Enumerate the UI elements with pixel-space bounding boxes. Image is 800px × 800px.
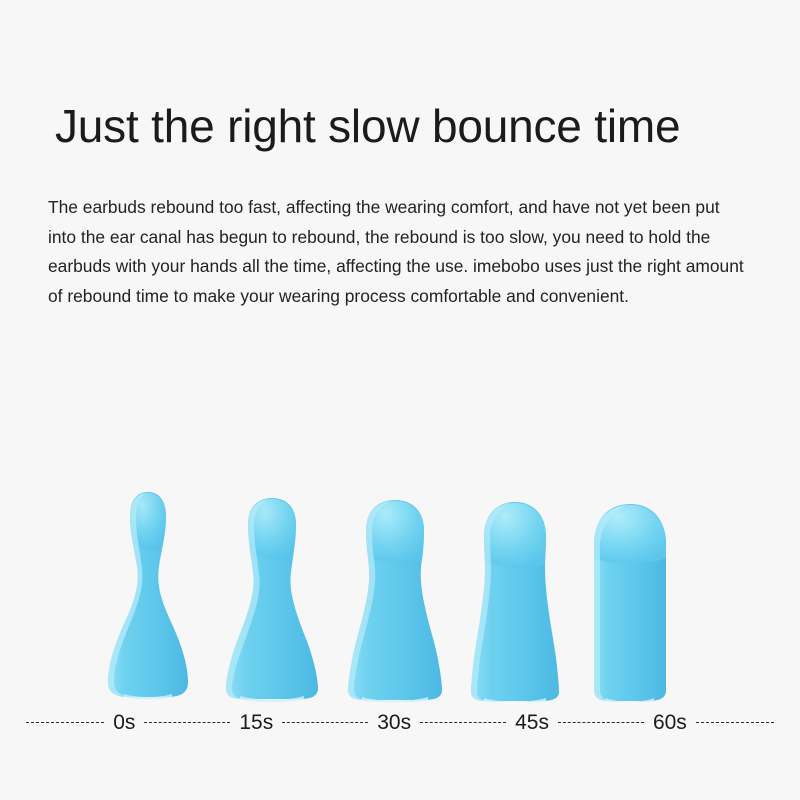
earbud-stage-60s	[578, 502, 682, 702]
timeline-dash-1	[144, 722, 230, 723]
page-title: Just the right slow bounce time	[55, 99, 680, 153]
timeline-label-60s: 60s	[644, 712, 696, 733]
timeline-label-45s: 45s	[506, 712, 558, 733]
timeline-dash-end	[696, 722, 774, 723]
timeline-label-30s: 30s	[368, 712, 420, 733]
rebound-timeline: 0s 15s 30s 45s 60s	[0, 705, 800, 739]
infographic-page: Just the right slow bounce time The earb…	[0, 0, 800, 800]
description-text: The earbuds rebound too fast, affecting …	[48, 193, 748, 311]
description-block: The earbuds rebound too fast, affecting …	[48, 193, 748, 311]
timeline-dash-start	[26, 722, 104, 723]
earbud-stage-30s	[340, 498, 450, 702]
earbud-stage-45s	[462, 500, 568, 702]
earbud-sequence	[0, 470, 800, 702]
timeline-dash-4	[558, 722, 644, 723]
earbud-stage-15s	[218, 496, 326, 702]
timeline-label-0s: 0s	[104, 712, 144, 733]
timeline-label-15s: 15s	[230, 712, 282, 733]
timeline-dash-3	[420, 722, 506, 723]
earbud-stage-0s	[96, 490, 200, 702]
timeline-dash-2	[282, 722, 368, 723]
